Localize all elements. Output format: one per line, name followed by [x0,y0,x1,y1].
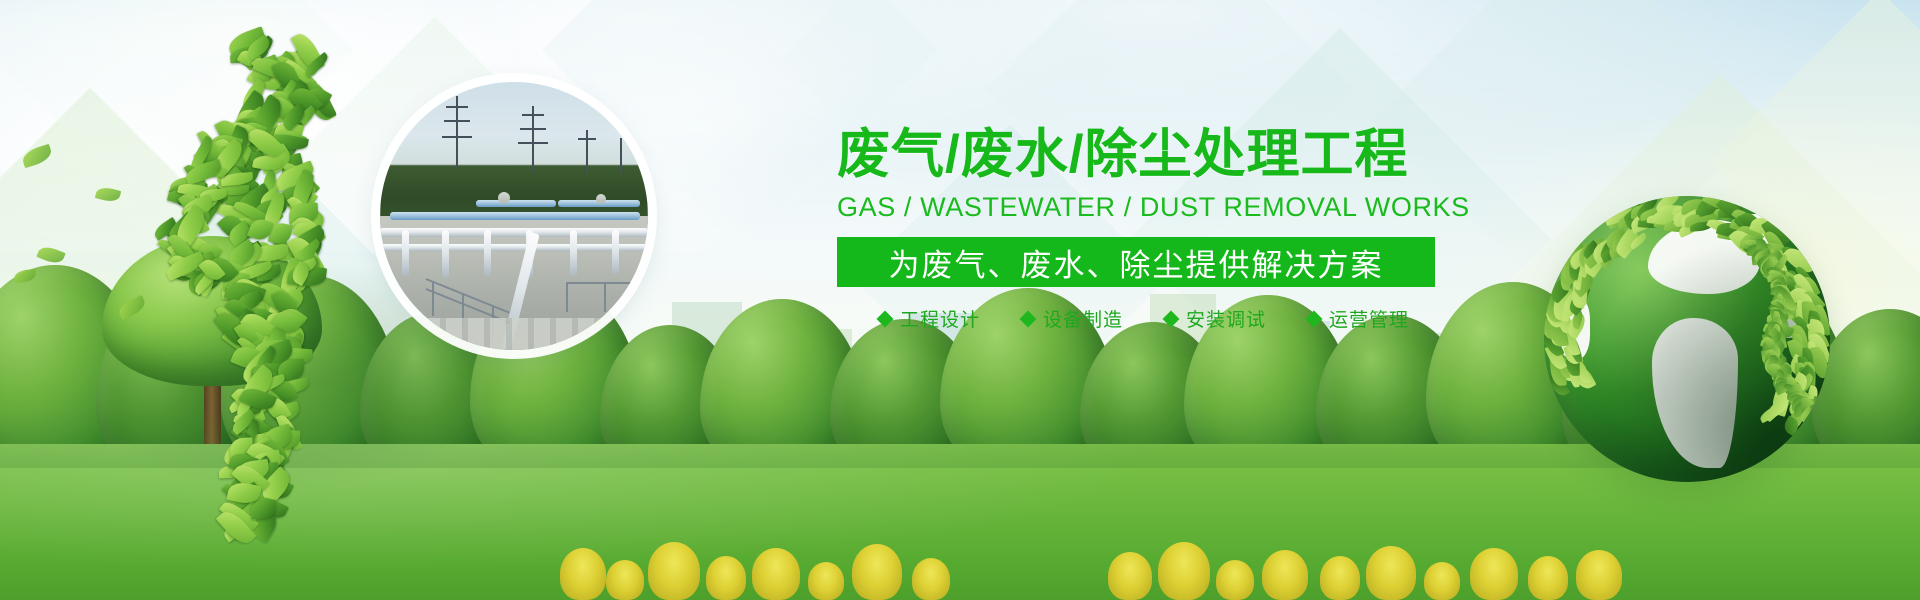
feature-label: 设备制造 [1043,305,1123,332]
feature-item[interactable]: 运营管理 [1308,305,1409,332]
feature-label: 工程设计 [900,305,980,332]
page-title: 废气/废水/除尘处理工程 [837,126,1477,183]
headline-block: 废气/废水/除尘处理工程 GAS / WASTEWATER / DUST REM… [837,126,1477,332]
diamond-icon [1163,310,1180,327]
slogan-text: 为废气、废水、除尘提供解决方案 [889,240,1384,285]
diamond-icon [1306,310,1323,327]
green-earth-globe [1544,196,1830,482]
page-subtitle: GAS / WASTEWATER / DUST REMOVAL WORKS [837,192,1477,223]
wastewater-plant-photo [380,82,648,350]
diamond-icon [1020,310,1037,327]
feature-item[interactable]: 安装调试 [1165,305,1266,332]
feature-label: 安装调试 [1186,305,1266,332]
feature-item[interactable]: 设备制造 [1022,305,1123,332]
diamond-icon [877,310,894,327]
feature-label: 运营管理 [1329,305,1409,332]
slogan-bar: 为废气、废水、除尘提供解决方案 [837,237,1435,287]
feature-item[interactable]: 工程设计 [879,305,980,332]
feature-list: 工程设计 设备制造 安装调试 运营管理 [879,305,1477,332]
promo-banner: 废气/废水/除尘处理工程 GAS / WASTEWATER / DUST REM… [0,0,1920,600]
leaf-man-figure [118,46,348,546]
